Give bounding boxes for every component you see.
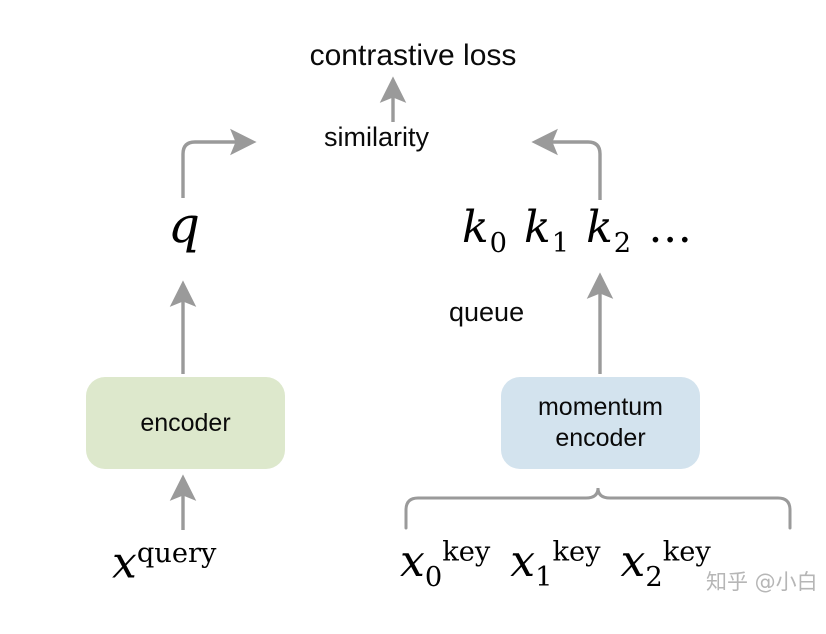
keys-ellipsis: … xyxy=(648,202,693,253)
queue-label: queue xyxy=(449,297,524,329)
key-input-symbols: x0keyx1keyx2key xyxy=(400,538,711,591)
arrow-q-to-similarity xyxy=(183,142,243,198)
k0-symbol: k0 xyxy=(462,202,508,253)
diagram-canvas: contrastive loss similarity queue q k0k1… xyxy=(0,0,826,634)
key-representations-symbols: k0k1k2… xyxy=(462,206,693,257)
x-query-superscript: query xyxy=(137,538,217,569)
encoder-box-label: encoder xyxy=(140,408,230,439)
q-symbol: q xyxy=(168,196,200,254)
x-key-2-symbol: x2key xyxy=(621,536,711,587)
k2-symbol: k2 xyxy=(586,202,632,253)
contrastive-loss-label: contrastive loss xyxy=(0,38,826,73)
x-query-base: x xyxy=(112,538,137,589)
brace-xkeys-to-momentum-encoder xyxy=(406,488,790,528)
momentum-encoder-box[interactable]: momentum encoder xyxy=(501,377,700,469)
watermark-text: 知乎 @小白 xyxy=(706,566,818,596)
similarity-label: similarity xyxy=(324,122,429,154)
encoder-box[interactable]: encoder xyxy=(86,377,285,469)
query-representation-symbol: q xyxy=(168,200,200,250)
query-input-symbol: xquery xyxy=(112,540,216,586)
x-key-1-symbol: x1key xyxy=(510,536,600,587)
arrow-keys-to-similarity xyxy=(545,142,600,200)
x-key-0-symbol: x0key xyxy=(400,536,490,587)
k1-symbol: k1 xyxy=(524,202,570,253)
momentum-encoder-box-label: momentum encoder xyxy=(538,392,663,454)
